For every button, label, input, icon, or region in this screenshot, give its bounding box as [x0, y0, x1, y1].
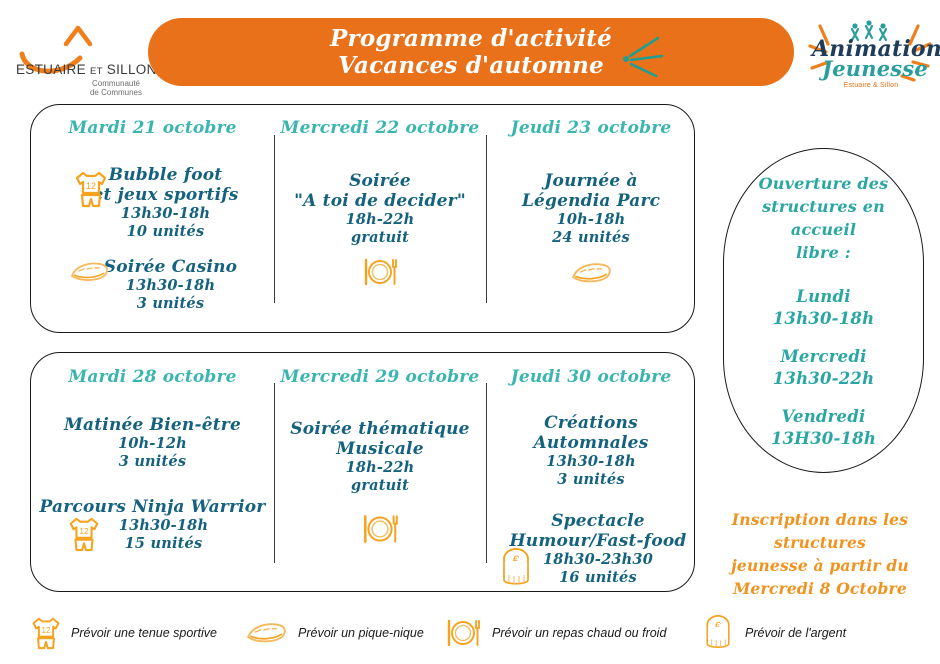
activity-units: 24 unités [486, 229, 696, 247]
opening-hours-oval: Ouverture des structures en accueil libr… [723, 148, 924, 473]
activity-units: 3 unités [486, 471, 696, 489]
title-banner: Programme d'activité Vacances d'automne [148, 18, 794, 86]
opening-hours: 13H30-18h [771, 428, 876, 450]
meal-plate-icon [443, 618, 483, 648]
legend-label: Prévoir une tenue sportive [71, 626, 217, 640]
activity-text: Créations Automnales 13h30-18h 3 unités [486, 413, 696, 489]
activity-name-line: Soirée [274, 171, 486, 191]
legend-item-picnic: Prévoir un pique-nique [243, 608, 424, 658]
day-column-jeudi-30: Jeudi 30 octobre Créations Automnales 13… [486, 353, 696, 591]
activity-units: 3 unités [31, 453, 274, 471]
opening-day: Vendredi [771, 406, 876, 428]
activity-text: Soirée thématique Musicale 18h-22h gratu… [274, 419, 486, 495]
opening-day: Mercredi [773, 346, 875, 368]
opening-day: Lundi [773, 286, 875, 308]
legend-label: Prévoir un pique-nique [298, 626, 424, 640]
sports-jersey-icon: 12 [30, 614, 62, 652]
cc-logo-sub-line2: de Communes [78, 88, 154, 97]
day-heading: Mercredi 29 octobre [274, 367, 486, 387]
day-heading: Mardi 28 octobre [31, 367, 274, 387]
cc-logo-sub-line1: Communauté [78, 79, 154, 88]
day-column-mercredi-22: Mercredi 22 octobre Soirée "A toi de dec… [274, 105, 486, 332]
sparkle-icon [618, 34, 678, 80]
legend-item-sportswear: 12 Prévoir une tenue sportive [30, 608, 217, 658]
sandwich-icon [67, 259, 111, 285]
svg-text:12: 12 [42, 626, 51, 635]
estuaire-sillon-logo: ESTUAIRE ET SILLON Communauté de Commune… [8, 22, 148, 84]
svg-text:12: 12 [79, 526, 89, 536]
cc-logo-subtitle: Communauté de Communes [78, 79, 154, 97]
animation-jeunesse-logo: Animation Jeunesse Estuaire & Sillon [806, 10, 936, 98]
coins-icon: € [496, 547, 536, 589]
sandwich-icon [568, 259, 614, 287]
inscription-line: Inscription dans les structures [702, 508, 938, 554]
title-text-block: Programme d'activité Vacances d'automne [148, 18, 794, 86]
aj-word-jeunesse: Jeunesse [816, 58, 934, 79]
coins-icon: € [700, 613, 736, 653]
activity-name-line: "A toi de decider" [274, 191, 486, 211]
activity-item: 12 Bubble foot et jeux sportifs 13h30-18… [31, 165, 274, 241]
activity-units: 10 unités [57, 223, 274, 241]
week-1-panel: Mardi 21 octobre 12 Bubble foot et jeux … [30, 104, 695, 333]
meal-plate-icon [360, 257, 400, 287]
activity-time: 10h-12h [31, 435, 274, 453]
cc-logo-estuaire: ESTUAIRE [16, 62, 86, 77]
activity-item: 12 Parcours Ninja Warrior 13h30-18h 15 u… [31, 497, 274, 553]
activity-name-line: Soirée thématique [274, 419, 486, 439]
activity-text: Journée à Légendia Parc 10h-18h 24 unité… [486, 171, 696, 247]
meal-plate-icon [359, 513, 401, 545]
activity-name-line: Spectacle [500, 511, 696, 531]
activity-time: 13h30-18h [486, 453, 696, 471]
opening-title-line: Ouverture des [731, 172, 916, 195]
activity-item: € Spectacle Humour/Fast-food 18h30-23h30… [486, 511, 696, 587]
activity-units: gratuit [274, 229, 486, 247]
day-heading: Jeudi 30 octobre [486, 367, 696, 387]
title-line-2: Vacances d'automne [338, 52, 604, 79]
activity-name-line: Journée à [486, 171, 696, 191]
activity-time: 18h-22h [274, 459, 486, 477]
day-heading: Mercredi 22 octobre [274, 118, 486, 138]
svg-text:12: 12 [86, 181, 96, 191]
opening-entry-lundi: Lundi 13h30-18h [773, 286, 875, 330]
legend-item-meal: Prévoir un repas chaud ou froid [443, 608, 666, 658]
opening-title-line: structures en accueil [731, 195, 916, 241]
aj-subtitle: Estuaire & Sillon [812, 82, 930, 89]
activity-units: gratuit [274, 477, 486, 495]
title-line-1: Programme d'activité [330, 25, 612, 52]
day-column-mardi-21: Mardi 21 octobre 12 Bubble foot et jeux … [31, 105, 274, 332]
poster-root: ESTUAIRE ET SILLON Communauté de Commune… [0, 0, 940, 664]
day-heading: Jeudi 23 octobre [486, 118, 696, 138]
legend-label: Prévoir de l'argent [745, 626, 846, 640]
day-column-mardi-28: Mardi 28 octobre Matinée Bien-être 10h-1… [31, 353, 274, 591]
cc-logo-name: ESTUAIRE ET SILLON [16, 62, 156, 77]
activity-text: Matinée Bien-être 10h-12h 3 unités [31, 415, 274, 471]
activity-name-line: Parcours Ninja Warrior [31, 497, 274, 517]
opening-entry-mercredi: Mercredi 13h30-22h [773, 346, 875, 390]
week-2-panel: Mardi 28 octobre Matinée Bien-être 10h-1… [30, 352, 695, 592]
legend-bar: 12 Prévoir une tenue sportive Prévoir un… [0, 608, 940, 658]
activity-time: 18h-22h [274, 211, 486, 229]
opening-entry-vendredi: Vendredi 13H30-18h [771, 406, 876, 450]
inscription-note: Inscription dans les structures jeunesse… [702, 508, 938, 600]
activity-item: Soirée Casino 13h30-18h 3 unités [31, 257, 274, 313]
activity-text: Soirée "A toi de decider" 18h-22h gratui… [274, 171, 486, 247]
activity-units: 3 unités [67, 295, 274, 313]
activity-name-line: Musicale [274, 439, 486, 459]
activity-name-line: Créations Automnales [486, 413, 696, 453]
activity-time: 10h-18h [486, 211, 696, 229]
sports-jersey-icon: 12 [67, 515, 101, 553]
activity-name-line: Matinée Bien-être [31, 415, 274, 435]
inscription-line: Mercredi 8 Octobre [702, 577, 938, 600]
opening-title-line: libre : [731, 241, 916, 264]
legend-item-money: € Prévoir de l'argent [700, 608, 846, 658]
day-column-jeudi-23: Jeudi 23 octobre Journée à Légendia Parc… [486, 105, 696, 332]
sports-jersey-icon: 12 [73, 169, 109, 209]
inscription-line: jeunesse à partir du [702, 554, 938, 577]
sandwich-icon [243, 619, 289, 647]
legend-label: Prévoir un repas chaud ou froid [492, 626, 666, 640]
day-column-mercredi-29: Mercredi 29 octobre Soirée thématique Mu… [274, 353, 486, 591]
poster-header: ESTUAIRE ET SILLON Communauté de Commune… [0, 0, 940, 100]
activity-name-line: Légendia Parc [486, 191, 696, 211]
opening-hours: 13h30-22h [773, 368, 875, 390]
opening-hours: 13h30-18h [773, 308, 875, 330]
day-heading: Mardi 21 octobre [31, 118, 274, 138]
cc-logo-et: ET [90, 66, 103, 77]
opening-hours-title: Ouverture des structures en accueil libr… [731, 172, 916, 264]
